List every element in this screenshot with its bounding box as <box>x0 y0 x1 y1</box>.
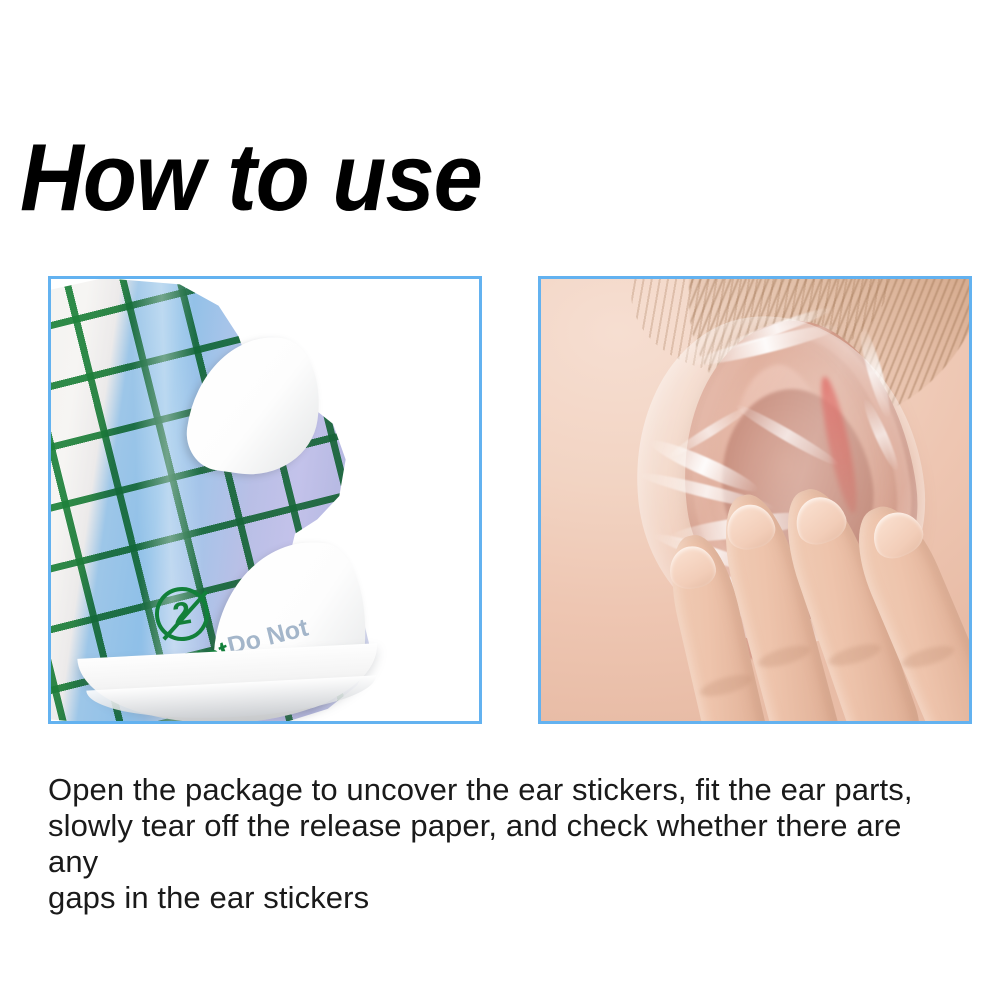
instruction-caption: Open the package to uncover the ear stic… <box>48 772 948 916</box>
step-images-row: Do Not Do Not <box>48 276 972 724</box>
package-photo-panel: Do Not Do Not <box>48 276 482 724</box>
ear-application-photo-panel <box>538 276 972 724</box>
caption-line-2: slowly tear off the release paper, and c… <box>48 808 948 880</box>
caption-line-1: Open the package to uncover the ear stic… <box>48 772 948 808</box>
caption-line-3: gaps in the ear stickers <box>48 880 948 916</box>
ear-application-photo <box>541 279 969 721</box>
page-title: How to use <box>20 130 482 226</box>
package-photo: Do Not Do Not <box>51 279 479 721</box>
